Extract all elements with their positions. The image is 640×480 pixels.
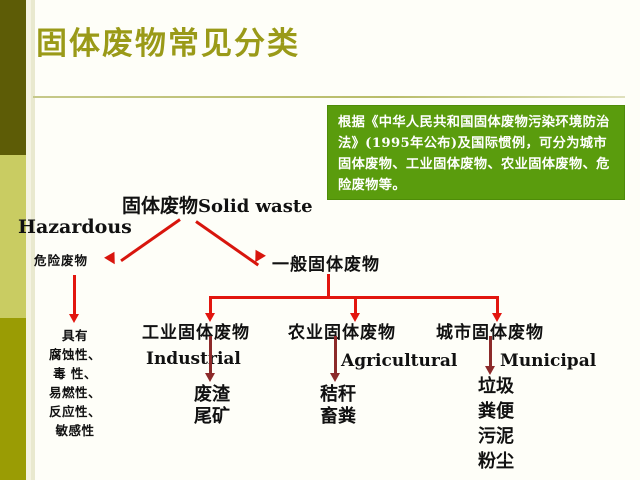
connector-industrial-to-items-arrowhead — [205, 373, 215, 382]
node-root-cn: 固体废物 — [122, 195, 198, 217]
node-root-en: Solid waste — [198, 196, 313, 217]
node-industrial-en: Industrial — [146, 349, 241, 369]
slide-canvas: 固体废物常见分类 根据《中华人民共和国固体废物污染环境防治法》(1995年公布)… — [0, 0, 640, 480]
node-root: 固体废物Solid waste — [122, 191, 313, 218]
note-box: 根据《中华人民共和国固体废物污染环境防治法》(1995年公布)及国际惯例，可分为… — [327, 105, 625, 200]
connector-general-vertical — [327, 274, 330, 298]
connector-municipal-to-items-arrowhead — [485, 366, 495, 375]
connector-hazardous-arrowhead — [69, 314, 79, 323]
connector-agricultural-to-items-arrowhead — [330, 373, 340, 382]
arrow-root-to-hazardous-head — [104, 252, 120, 268]
node-agricultural-en: Agricultural — [341, 351, 457, 371]
leaf-hazardous-properties: 具有腐蚀性、毒 性、易燃性、反应性、敏感性 — [40, 326, 110, 440]
node-industrial-cn: 工业固体废物 — [142, 318, 250, 343]
connector-industrial-to-items — [209, 336, 212, 378]
connector-hazardous-vertical — [73, 275, 76, 318]
sidebar-band-top — [0, 0, 26, 155]
connector-agricultural-arrowhead — [350, 313, 360, 322]
leaf-industrial-items: 废渣尾矿 — [182, 384, 242, 428]
sidebar-band-bottom — [0, 318, 26, 480]
connector-municipal-to-items — [489, 336, 492, 370]
node-agricultural-cn: 农业固体废物 — [288, 318, 396, 343]
node-general-cn: 一般固体废物 — [272, 250, 380, 275]
node-municipal-en: Municipal — [500, 351, 596, 371]
connector-municipal-arrowhead — [492, 313, 502, 322]
sidebar-thin-stripe-dark — [31, 0, 35, 480]
page-title: 固体废物常见分类 — [36, 18, 300, 63]
connector-industrial-arrowhead — [205, 313, 215, 322]
leaf-agricultural-items: 秸秆畜粪 — [308, 384, 368, 428]
node-hazardous-cn: 危险废物 — [34, 250, 88, 269]
connector-agricultural-to-items — [334, 336, 337, 378]
leaf-municipal-items: 垃圾粪便污泥粉尘 — [466, 374, 526, 474]
node-hazardous-en: Hazardous — [18, 216, 132, 238]
note-text: 根据《中华人民共和国固体废物污染环境防治法》(1995年公布)及国际惯例，可分为… — [338, 112, 616, 196]
title-divider — [33, 96, 625, 98]
